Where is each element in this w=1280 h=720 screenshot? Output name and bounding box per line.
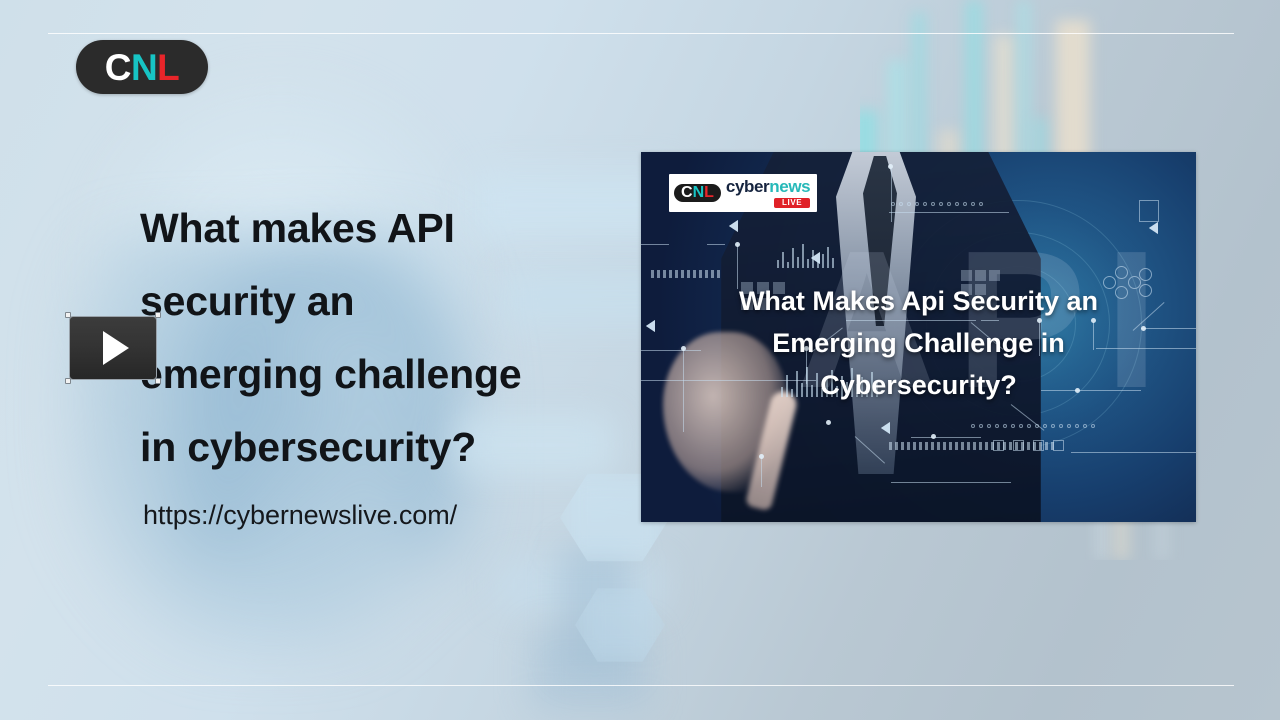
cybernews-badge: CNL cybernews LIVE [669,174,817,212]
badge-word-cyber: cyber [726,177,769,196]
thumbnail-title-line-3: Cybersecurity? [667,364,1170,406]
logo-letter-c: C [105,47,131,88]
thumbnail-title: What Makes Api Security an Emerging Chal… [641,280,1196,406]
headline-line-4: in cybersecurity? [140,411,610,484]
play-icon [103,331,129,365]
logo-letter-l: L [157,47,179,88]
video-thumbnail-image[interactable]: API CNL cybernews LIVE What Makes Api Se… [641,152,1196,522]
resize-handle-bottom-left[interactable] [65,378,71,384]
thumbnail-title-line-1: What Makes Api Security an [667,280,1170,322]
thumbnail-title-line-2: Emerging Challenge in [667,322,1170,364]
headline-line-1: What makes API [140,192,610,265]
resize-handle-bottom-right[interactable] [155,378,161,384]
badge-letter-c: C [681,185,693,202]
headline-line-2: security an [140,265,610,338]
badge-word-news: news [769,177,810,196]
resize-handle-top-left[interactable] [65,312,71,318]
live-badge: LIVE [774,198,810,208]
badge-letter-l: L [704,185,714,202]
divider-bottom [48,685,1234,686]
resize-handle-top-right[interactable] [155,312,161,318]
headline-line-3: emerging challenge [140,338,610,411]
presentation-slide: CNL What makes API security an emerging … [0,0,1280,720]
video-play-button[interactable] [66,313,160,383]
play-button-surface[interactable] [69,316,157,380]
logo-letter-n: N [131,47,157,88]
badge-letter-n: N [693,185,705,202]
cybernews-cnl-logo: CNL [674,184,721,203]
website-url[interactable]: https://cybernewslive.com/ [143,500,457,531]
divider-top [48,33,1234,34]
cnl-logo: CNL [76,40,208,94]
slide-headline: What makes API security an emerging chal… [140,192,610,484]
